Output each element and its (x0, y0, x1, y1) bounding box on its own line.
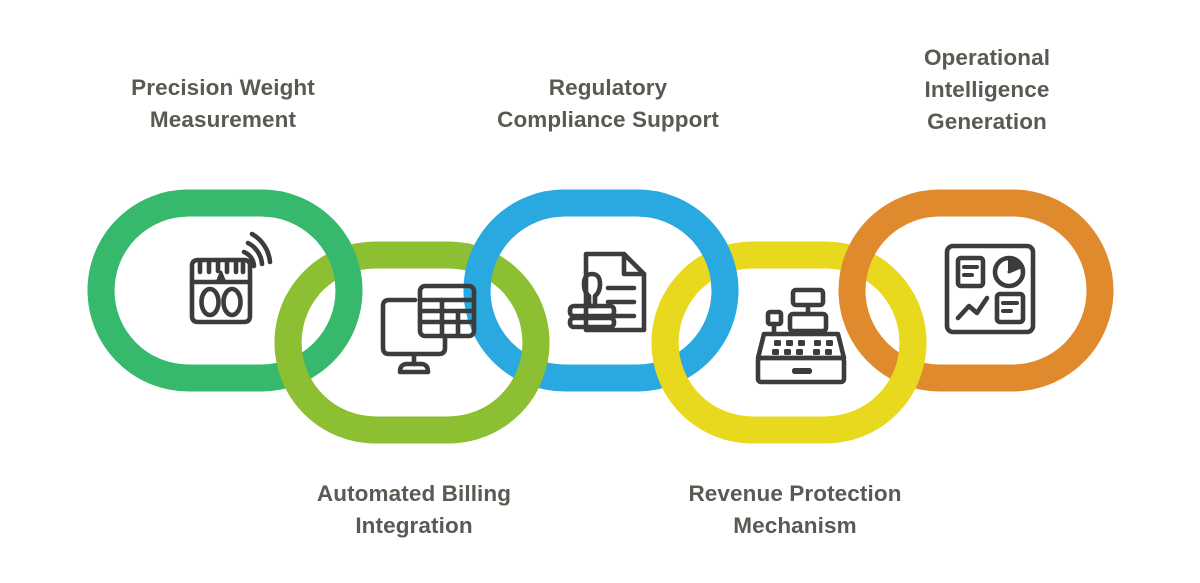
chain-link-4-label: Revenue Protection Mechanism (660, 478, 930, 542)
monitor-invoice-table-icon (383, 286, 474, 372)
analytics-dashboard-icon (947, 246, 1033, 332)
chain-link-5-label: Operational Intelligence Generation (876, 42, 1098, 138)
chain-link-2-label: Automated Billing Integration (288, 478, 540, 542)
weighing-scale-wireless-icon (192, 234, 270, 322)
chain-link-3-label: Regulatory Compliance Support (470, 72, 746, 136)
infographic-canvas: Precision Weight Measurement Automated B… (0, 0, 1200, 583)
cash-register-icon (758, 290, 844, 382)
chain-link-1-label: Precision Weight Measurement (96, 72, 350, 136)
document-stamp-icon (570, 254, 644, 330)
